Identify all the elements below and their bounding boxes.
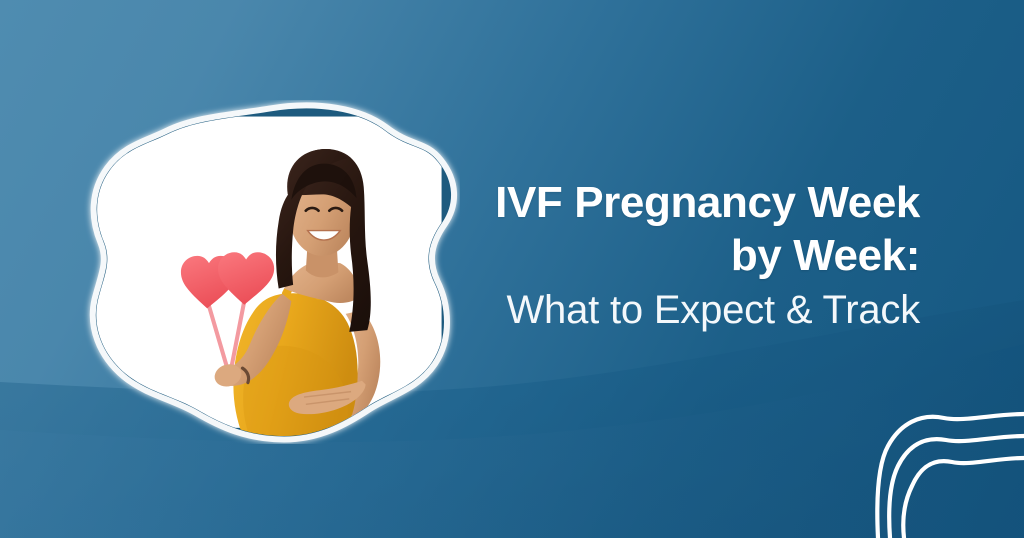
ivf-pregnancy-banner: IVF Pregnancy Week by Week: What to Expe…: [0, 0, 1024, 538]
headline-line-3: What to Expect & Track: [360, 282, 920, 338]
headline-block: IVF Pregnancy Week by Week: What to Expe…: [360, 176, 920, 338]
headline-line-2: by Week:: [360, 229, 920, 282]
headline-line-1: IVF Pregnancy Week: [360, 176, 920, 229]
